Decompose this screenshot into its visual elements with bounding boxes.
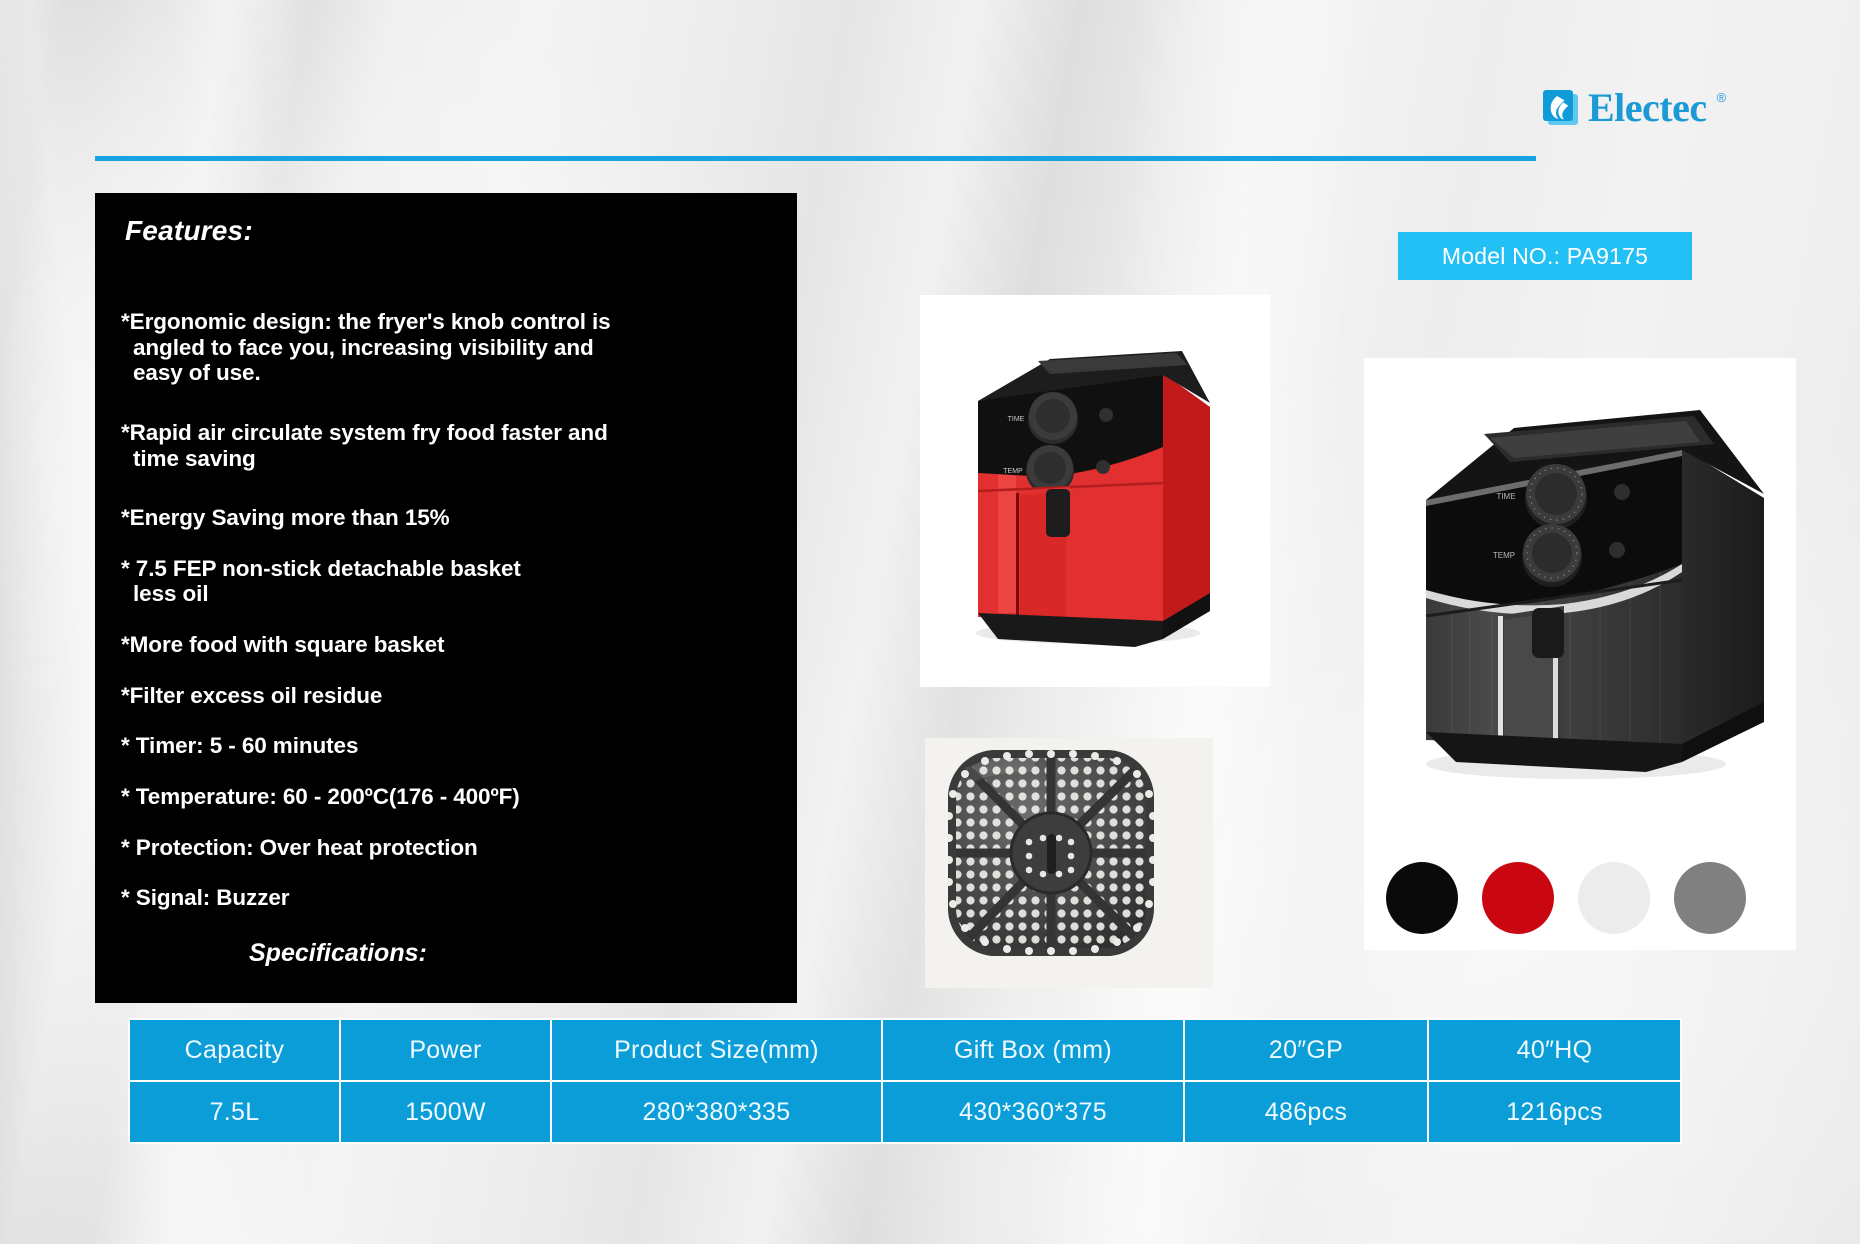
svg-text:TIME: TIME bbox=[1008, 416, 1025, 423]
color-swatch-red[interactable] bbox=[1482, 862, 1554, 934]
model-number-badge: Model NO.: PA9175 bbox=[1398, 232, 1692, 280]
feature-cont: less oil bbox=[121, 581, 771, 607]
knob-label-time: TIME bbox=[1496, 492, 1515, 501]
black-fryer-image-card: TIME TEMP bbox=[1364, 358, 1796, 798]
product-spec-sheet: Electec ® Features: *Ergonomic design: t… bbox=[0, 0, 1860, 1244]
feature-cont: time saving bbox=[121, 446, 771, 472]
table-header-cell: Product Size(mm) bbox=[551, 1019, 882, 1081]
table-cell: 1500W bbox=[340, 1081, 551, 1143]
specifications-table: Capacity Power Product Size(mm) Gift Box… bbox=[128, 1018, 1682, 1144]
table-cell: 1216pcs bbox=[1428, 1081, 1681, 1143]
feature-lead: *Rapid air circulate system fry food fas… bbox=[121, 420, 608, 445]
feature-lead: * Signal: Buzzer bbox=[121, 885, 289, 910]
table-cell: 430*360*375 bbox=[882, 1081, 1184, 1143]
table-cell: 486pcs bbox=[1184, 1081, 1428, 1143]
knob-label-temp: TEMP bbox=[1493, 551, 1515, 560]
feature-item: *Ergonomic design: the fryer's knob cont… bbox=[121, 309, 771, 386]
features-title: Features: bbox=[125, 215, 771, 247]
specifications-heading: Specifications: bbox=[249, 939, 771, 968]
grill-plate-image-card bbox=[925, 738, 1213, 988]
black-air-fryer-photo: TIME TEMP bbox=[1364, 358, 1796, 798]
table-cell: 280*380*335 bbox=[551, 1081, 882, 1143]
feature-lead: * Timer: 5 - 60 minutes bbox=[121, 733, 358, 758]
feature-item: *Rapid air circulate system fry food fas… bbox=[121, 420, 771, 471]
brand-logo: Electec ® bbox=[1543, 88, 1726, 128]
available-colors bbox=[1386, 862, 1746, 934]
feature-item: * Signal: Buzzer bbox=[121, 885, 771, 911]
table-header-cell: 40″HQ bbox=[1428, 1019, 1681, 1081]
feature-cont: easy of use. bbox=[121, 360, 771, 386]
header-divider bbox=[95, 156, 1536, 161]
feature-lead: *More food with square basket bbox=[121, 632, 444, 657]
feature-item: * Timer: 5 - 60 minutes bbox=[121, 733, 771, 759]
basket-grill-plate-photo bbox=[925, 738, 1213, 988]
feature-lead: * Temperature: 60 - 200ºC(176 - 400ºF) bbox=[121, 784, 520, 809]
feature-lead: * Protection: Over heat protection bbox=[121, 835, 478, 860]
red-fryer-image-card: TIME TEMP bbox=[920, 295, 1270, 687]
feature-lead: *Energy Saving more than 15% bbox=[121, 505, 450, 530]
red-air-fryer-photo: TIME TEMP bbox=[920, 295, 1270, 687]
table-row: 7.5L 1500W 280*380*335 430*360*375 486pc… bbox=[129, 1081, 1681, 1143]
feature-lead: *Filter excess oil residue bbox=[121, 683, 382, 708]
table-cell: 7.5L bbox=[129, 1081, 340, 1143]
table-header-cell: Power bbox=[340, 1019, 551, 1081]
feature-lead: *Ergonomic design: the fryer's knob cont… bbox=[121, 309, 611, 334]
table-header-cell: Gift Box (mm) bbox=[882, 1019, 1184, 1081]
registered-mark: ® bbox=[1717, 90, 1727, 105]
color-swatch-gray[interactable] bbox=[1674, 862, 1746, 934]
feature-item: * Temperature: 60 - 200ºC(176 - 400ºF) bbox=[121, 784, 771, 810]
color-swatch-black[interactable] bbox=[1386, 862, 1458, 934]
brand-name: Electec bbox=[1588, 88, 1707, 128]
table-header-row: Capacity Power Product Size(mm) Gift Box… bbox=[129, 1019, 1681, 1081]
feature-item: *Energy Saving more than 15% bbox=[121, 505, 771, 531]
features-panel: Features: *Ergonomic design: the fryer's… bbox=[95, 193, 797, 1003]
feature-item: * Protection: Over heat protection bbox=[121, 835, 771, 861]
table-header-cell: 20″GP bbox=[1184, 1019, 1428, 1081]
color-swatch-white[interactable] bbox=[1578, 862, 1650, 934]
feature-item: *Filter excess oil residue bbox=[121, 683, 771, 709]
flame-swirl-icon bbox=[1543, 90, 1579, 126]
feature-lead: * 7.5 FEP non-stick detachable basket bbox=[121, 556, 521, 581]
table-header-cell: Capacity bbox=[129, 1019, 340, 1081]
feature-cont: angled to face you, increasing visibilit… bbox=[121, 335, 771, 361]
svg-text:TEMP: TEMP bbox=[1003, 468, 1023, 475]
feature-item: * 7.5 FEP non-stick detachable basket le… bbox=[121, 556, 771, 607]
feature-item: *More food with square basket bbox=[121, 632, 771, 658]
